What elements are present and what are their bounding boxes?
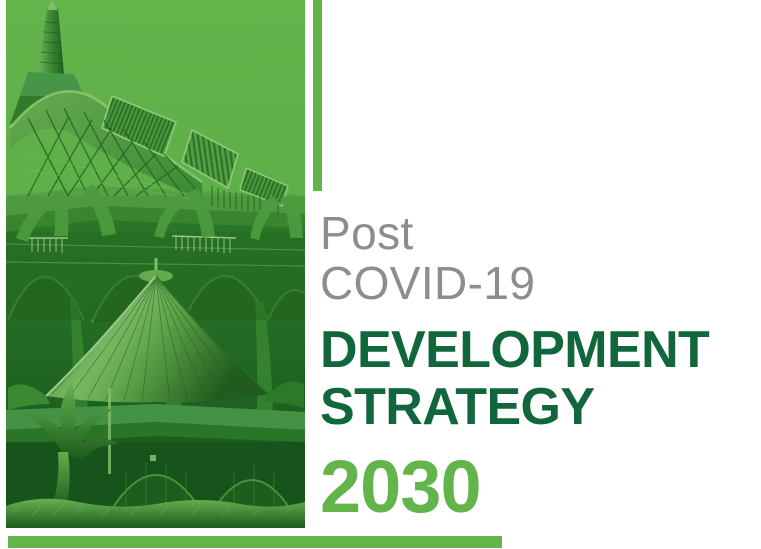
accent-bar-vertical [313,0,322,191]
title-line-year: 2030 [320,448,750,526]
title-line-post: Post [320,208,750,258]
title-line-covid: COVID-19 [320,258,750,308]
title-line-strategy: STRATEGY [320,379,750,436]
accent-bar-horizontal [8,536,502,548]
cover-photo [6,0,305,528]
cover-title-block: Post COVID-19 DEVELOPMENT STRATEGY 2030 [320,208,750,526]
title-line-development: DEVELOPMENT [320,322,750,379]
report-cover: Post COVID-19 DEVELOPMENT STRATEGY 2030 [0,0,761,549]
sarawak-dun-building-illustration [6,0,305,528]
